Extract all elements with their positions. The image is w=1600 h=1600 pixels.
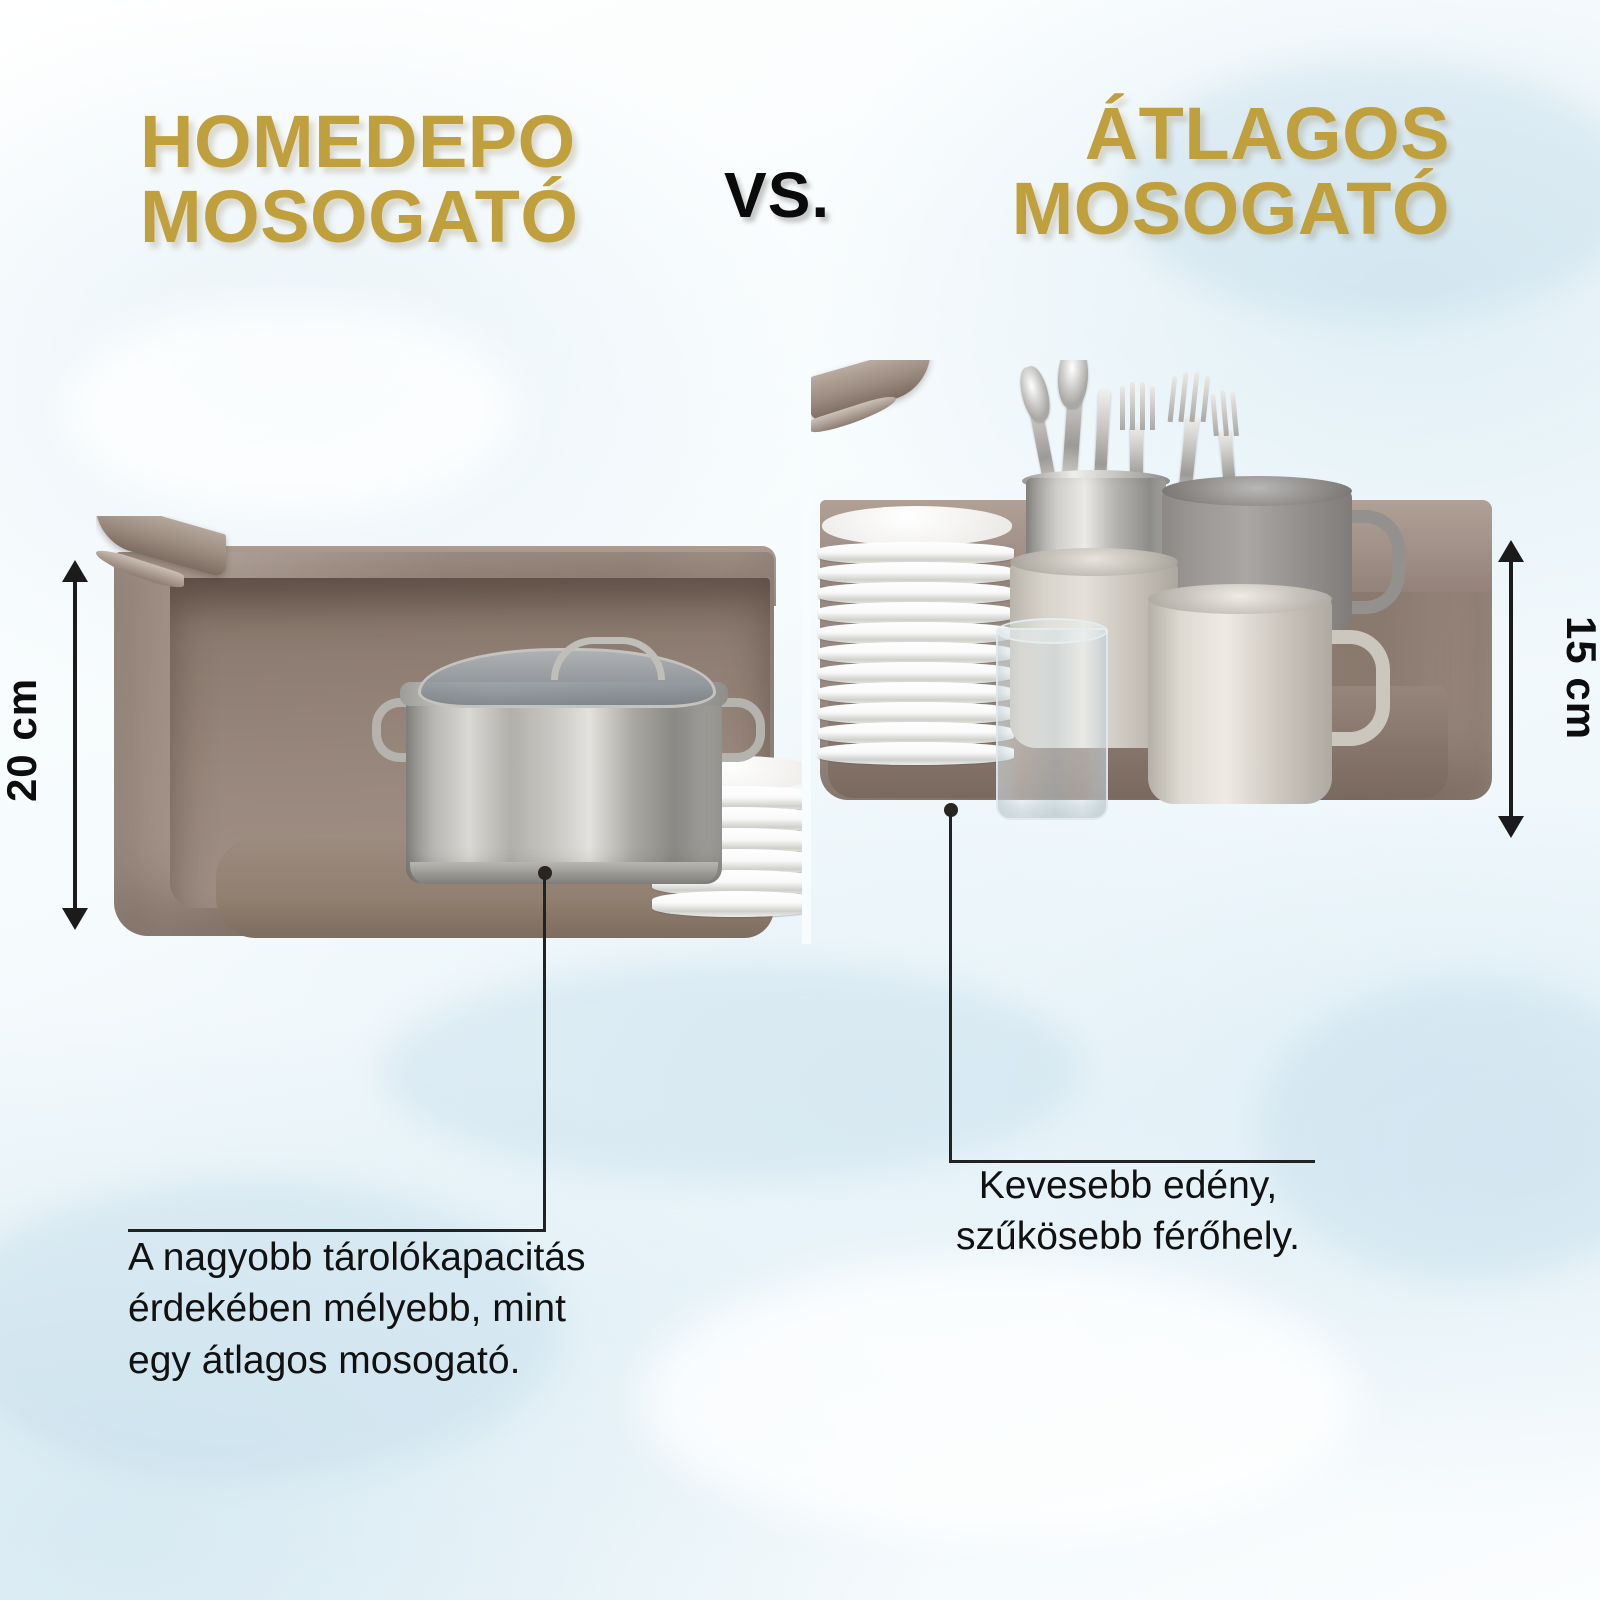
drinking-glass [996, 628, 1108, 820]
left-product-title: HOMEDEPO MOSOGATÓ [140, 104, 578, 255]
marble-vein [380, 960, 1080, 1180]
right-depth-label: 15 cm [1557, 616, 1600, 740]
left-caption-text: A nagyobb tárolókapacitás érdekében mély… [128, 1232, 586, 1386]
fork-tine [1140, 382, 1145, 430]
fork-tine [1120, 386, 1125, 430]
glass-lid [418, 648, 716, 708]
versus-label: VS. [724, 158, 830, 232]
fork-tine [1220, 390, 1229, 436]
knife-tip [1056, 360, 1089, 409]
spoon-bowl [1016, 364, 1055, 425]
pot-body [406, 692, 722, 884]
glass-rim [996, 618, 1108, 644]
dimension-line [1509, 558, 1513, 820]
mug-rim [1162, 476, 1352, 506]
fork-tine [1210, 394, 1219, 436]
panel-divider [802, 360, 811, 944]
marble-highlight [640, 1260, 1360, 1540]
fork-tine [1130, 382, 1135, 430]
plate [652, 891, 802, 917]
fork-tine [1189, 372, 1199, 422]
fork-tine [1201, 376, 1211, 422]
top-plate [822, 506, 1012, 546]
fork-tine [1168, 376, 1178, 422]
marble-highlight [60, 300, 520, 520]
fork-tine [1230, 392, 1239, 436]
fork-tine [1150, 386, 1155, 430]
arrow-head-down-icon [62, 908, 88, 930]
lid-handle [551, 637, 665, 680]
mug-rim [1010, 548, 1178, 576]
stainless-stockpot [380, 634, 748, 884]
plate [818, 742, 1014, 765]
left-depth-label: 20 cm [0, 678, 46, 802]
pot-base [410, 862, 718, 884]
right-product-photo [810, 360, 1510, 860]
beige-mug [1148, 596, 1332, 804]
right-product-title: ÁTLAGOS MOSOGATÓ [1012, 96, 1450, 247]
right-caption-text: Kevesebb edény, szűkösebb férőhely. [928, 1160, 1328, 1263]
left-product-photo [96, 516, 802, 944]
infographic-canvas: HOMEDEPO MOSOGATÓ VS. ÁTLAGOS MOSOGATÓ [0, 0, 1600, 1600]
mug-rim [1148, 584, 1332, 614]
arrow-head-down-icon [1498, 816, 1524, 838]
dimension-line [73, 578, 77, 912]
fork-tine [1178, 372, 1188, 422]
leader-vertical [543, 876, 546, 1232]
leader-vertical [949, 813, 952, 1163]
plate-stack [818, 506, 1018, 786]
